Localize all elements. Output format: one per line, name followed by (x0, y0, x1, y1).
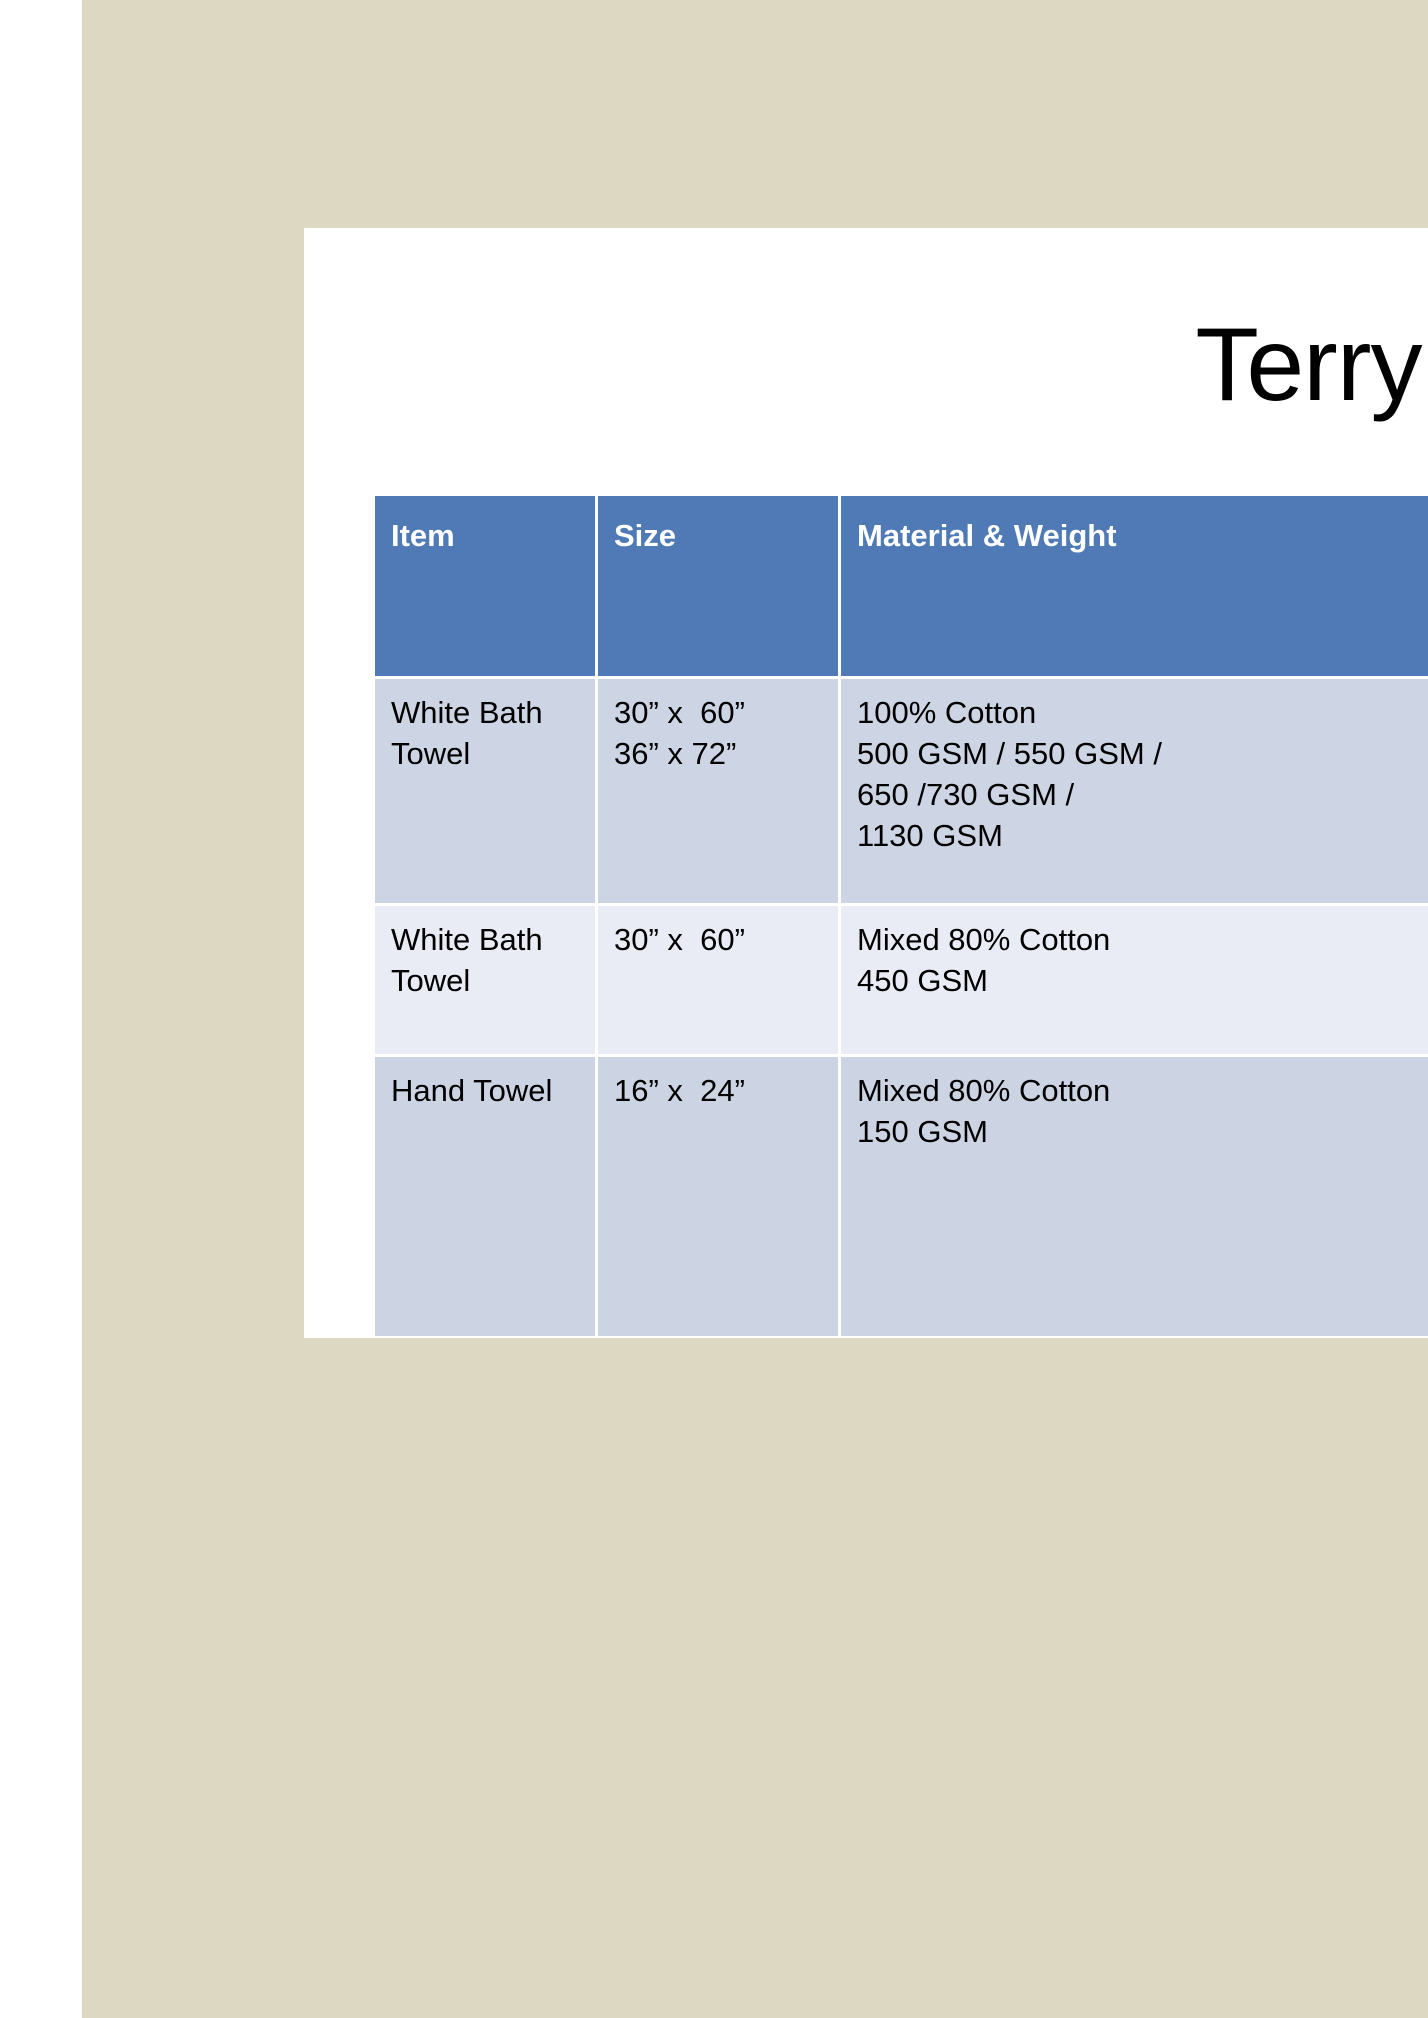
page-canvas: Terry T Item Size Material & Weight Whit… (82, 0, 1428, 2018)
cell-line: White Bath (391, 693, 579, 734)
table-row: Hand Towel 16” x 24” Mixed 80% Cotton 15… (375, 1057, 1428, 1336)
table-header-row: Item Size Material & Weight (375, 496, 1428, 676)
cell-line: Mixed 80% Cotton (857, 920, 1428, 961)
cell-material-weight: Mixed 80% Cotton 450 GSM (841, 906, 1428, 1054)
cell-size: 16” x 24” (598, 1057, 838, 1336)
cell-item: White Bath Towel (375, 679, 595, 903)
cell-material-weight: 100% Cotton 500 GSM / 550 GSM / 650 /730… (841, 679, 1428, 903)
slide-surface: Terry T Item Size Material & Weight Whit… (304, 228, 1428, 1338)
cell-line: 1130 GSM (857, 816, 1428, 857)
cell-line: 30” x 60” (614, 920, 822, 961)
table-body: White Bath Towel 30” x 60” 36” x 72” 100… (375, 679, 1428, 1336)
page-title: Terry T (304, 308, 1428, 422)
specification-table: Item Size Material & Weight White Bath T… (372, 493, 1428, 1339)
cell-item: White Bath Towel (375, 906, 595, 1054)
cell-line: 650 /730 GSM / (857, 775, 1428, 816)
cell-line: 100% Cotton (857, 693, 1428, 734)
cell-item: Hand Towel (375, 1057, 595, 1336)
cell-line: 450 GSM (857, 961, 1428, 1002)
cell-line: White Bath (391, 920, 579, 961)
cell-line: Mixed 80% Cotton (857, 1071, 1428, 1112)
table-header: Item Size Material & Weight (375, 496, 1428, 676)
cell-size: 30” x 60” 36” x 72” (598, 679, 838, 903)
cell-line: Towel (391, 734, 579, 775)
column-header-size: Size (598, 496, 838, 676)
cell-line: Towel (391, 961, 579, 1002)
column-header-item: Item (375, 496, 595, 676)
table-row: White Bath Towel 30” x 60” Mixed 80% Cot… (375, 906, 1428, 1054)
column-header-material-weight: Material & Weight (841, 496, 1428, 676)
cell-line: 36” x 72” (614, 734, 822, 775)
cell-line: 150 GSM (857, 1112, 1428, 1153)
cell-size: 30” x 60” (598, 906, 838, 1054)
cell-line: 500 GSM / 550 GSM / (857, 734, 1428, 775)
cell-line: 30” x 60” (614, 693, 822, 734)
cell-material-weight: Mixed 80% Cotton 150 GSM (841, 1057, 1428, 1336)
cell-line: 16” x 24” (614, 1071, 822, 1112)
cell-line: Hand Towel (391, 1071, 579, 1112)
table-row: White Bath Towel 30” x 60” 36” x 72” 100… (375, 679, 1428, 903)
